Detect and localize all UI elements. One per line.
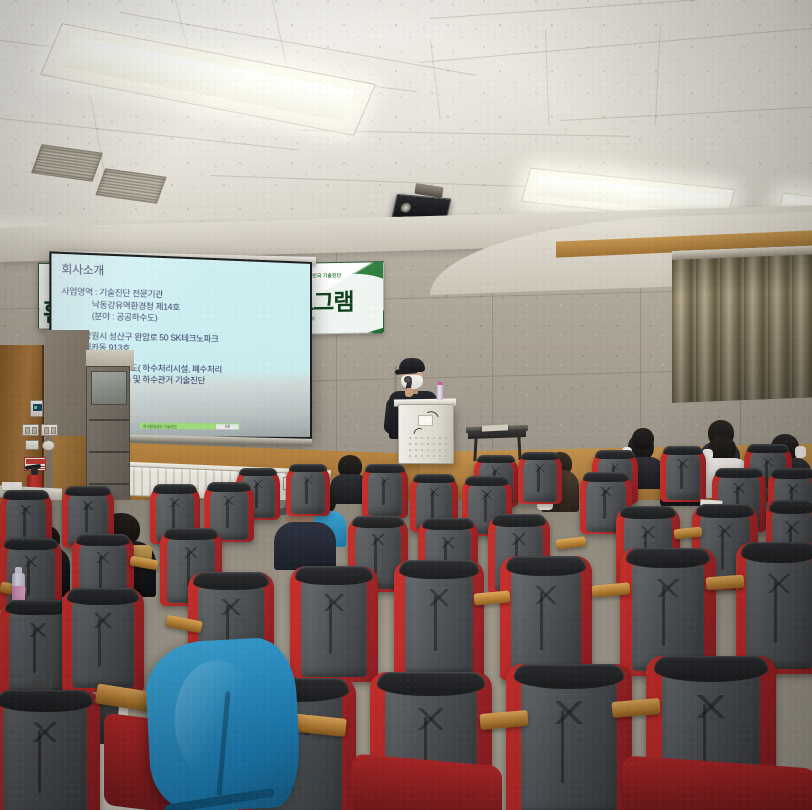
seat-armrest xyxy=(706,575,745,591)
door-rail xyxy=(89,483,129,485)
attendee-face-mask xyxy=(795,446,806,458)
bottle-cap xyxy=(15,567,22,574)
seat-crown xyxy=(741,542,812,563)
seat-crown xyxy=(715,468,763,478)
door-rail xyxy=(89,419,129,421)
seat[interactable] xyxy=(0,690,100,810)
bottle-label xyxy=(12,586,25,600)
seat-crown xyxy=(193,572,269,590)
controller-display-icon xyxy=(33,404,42,411)
seat-shell xyxy=(666,449,701,499)
presenter-hand xyxy=(405,388,413,397)
seat-crown xyxy=(207,482,251,492)
seat-crown xyxy=(422,518,475,530)
seat-crown xyxy=(506,556,587,576)
seat-crown xyxy=(769,500,812,514)
seat-crown xyxy=(514,664,625,689)
seat[interactable] xyxy=(736,542,812,674)
seat-crown xyxy=(4,538,59,550)
seat-crown xyxy=(239,468,278,476)
door-rail xyxy=(89,451,129,453)
seat-shell xyxy=(3,698,87,810)
curtain-shading xyxy=(672,245,812,403)
projector-lens-icon xyxy=(400,202,412,213)
seat-crown xyxy=(67,588,139,605)
seat-crown xyxy=(696,504,754,518)
seat-crown xyxy=(747,444,789,453)
seat-crown xyxy=(413,474,455,483)
window-curtain[interactable] xyxy=(672,245,812,403)
outlet-plate[interactable] xyxy=(25,440,39,450)
seat-shell xyxy=(746,550,811,669)
seat-crown xyxy=(771,468,812,479)
seat[interactable] xyxy=(62,588,144,692)
seat-shell xyxy=(511,563,581,675)
seat-crown xyxy=(153,484,197,494)
seat-shell xyxy=(72,594,134,688)
bottle-cap xyxy=(438,382,442,385)
switch-toggle[interactable] xyxy=(51,427,56,434)
extinguisher-neck xyxy=(31,467,38,475)
seat[interactable] xyxy=(290,566,378,682)
seat-shell xyxy=(521,673,617,810)
seat-shell xyxy=(523,455,556,502)
seat-crown xyxy=(377,672,484,696)
switch-toggle[interactable] xyxy=(32,427,37,434)
microphone-head-icon xyxy=(404,376,412,383)
seat-crown xyxy=(583,472,629,482)
seat[interactable] xyxy=(394,560,484,680)
seat[interactable] xyxy=(660,446,706,502)
draped-blue-jacket xyxy=(144,636,303,810)
seat-crown xyxy=(76,534,131,546)
seat-shell xyxy=(301,573,368,677)
attendee-jacket xyxy=(274,522,336,570)
seat-crown xyxy=(521,452,560,460)
seat-crown xyxy=(295,566,372,585)
light-switch-plate[interactable] xyxy=(41,424,58,436)
seat-crown xyxy=(164,528,219,540)
wall-controller[interactable] xyxy=(30,400,43,417)
seat[interactable] xyxy=(506,664,632,810)
seat-crown xyxy=(352,516,405,528)
seat-crown xyxy=(365,464,405,473)
stage-water-bottle xyxy=(437,385,443,400)
podium-cart xyxy=(398,404,454,464)
switch-toggle[interactable] xyxy=(25,427,30,434)
seat-crown xyxy=(620,506,676,519)
seat-shell xyxy=(632,556,705,671)
seat-shell xyxy=(368,467,403,516)
switch-toggle[interactable] xyxy=(44,427,49,434)
seat-crown xyxy=(0,690,93,712)
wall-dial[interactable] xyxy=(42,440,55,451)
seat-crown xyxy=(289,464,328,472)
light-switch-plate[interactable] xyxy=(22,424,39,436)
auditorium-photo: 대한민국 기술진단 환경 U 대한민국 기술진단 로그램 공공하수 회사소개 사… xyxy=(0,0,812,810)
seat-crown xyxy=(477,455,516,463)
seat[interactable] xyxy=(518,452,562,504)
seat-crown xyxy=(399,560,478,579)
seat[interactable] xyxy=(286,464,330,516)
seat-crown xyxy=(3,490,49,500)
seat-crown xyxy=(595,450,635,459)
sign-red-band xyxy=(26,459,46,464)
door-window xyxy=(91,371,127,405)
seat-crown xyxy=(663,446,703,455)
seat-crown xyxy=(465,476,509,486)
seat-shell xyxy=(291,467,324,514)
attendee-head xyxy=(632,428,654,450)
seat-shell xyxy=(405,567,473,675)
seat-crown xyxy=(492,514,547,527)
paper-sheet xyxy=(2,482,22,490)
seat[interactable] xyxy=(500,556,592,680)
seat[interactable] xyxy=(362,464,408,518)
seat-crown xyxy=(65,486,111,496)
seat-crown xyxy=(626,548,710,568)
seat-crown xyxy=(654,656,768,682)
